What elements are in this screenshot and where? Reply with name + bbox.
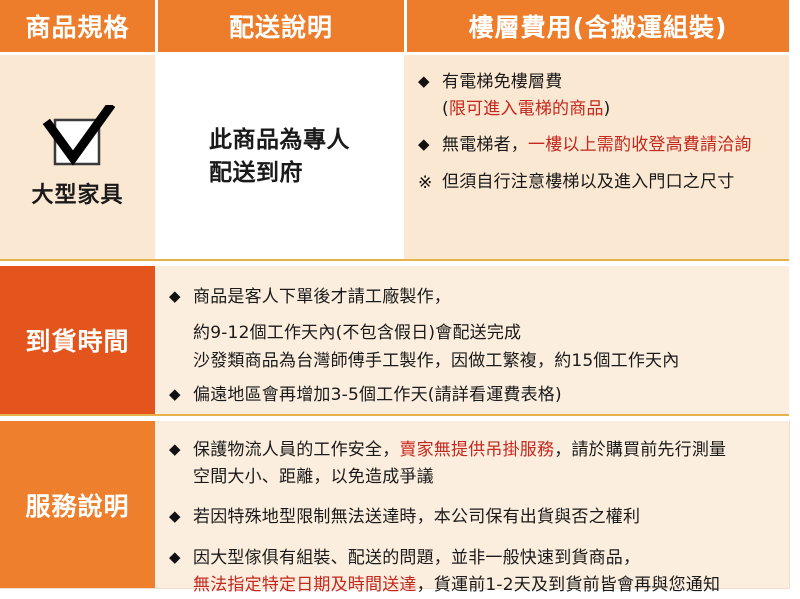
label-arrival-time: 到貨時間 [25,322,129,358]
header-label-product-spec: 商品規格 [25,8,129,44]
delivery-note-line2: 配送到府 [209,157,350,190]
cell-service-note-content: ◆ 保護物流人員的工作安全，賣家無提供吊掛服務，請於購買前先行測量 空間大小、距… [155,421,789,588]
text-segment: ) [604,99,611,119]
table-row-service-note: 服務說明 ◆ 保護物流人員的工作安全，賣家無提供吊掛服務，請於購買前先行測量 空… [0,421,790,589]
cell-label-arrival-time: 到貨時間 [0,266,155,414]
diamond-bullet-icon: ◆ [169,284,193,308]
list-item: ◆ 商品是客人下單後才請工廠製作， [169,284,779,311]
text-segment: 保護物流人員的工作安全， [193,440,399,460]
service-note-item-3: 因大型傢俱有組裝、配送的問題，並非一般快速到貨商品， 無法指定特定日期及時間送達… [193,545,779,599]
header-cell-floor-fee: 樓層費用(含搬運組裝) [407,0,789,52]
arrival-time-subline-2: 沙發類商品為台灣師傅手工製作，因做工繁複，約15個工作天內 [169,348,779,376]
text-segment: 無電梯者， [442,135,528,155]
list-item: ◆ 有電梯免樓層費 (限可進入電梯的商品) [418,69,781,123]
cell-floor-fee: ◆ 有電梯免樓層費 (限可進入電梯的商品) ◆ 無電梯者，一樓以上需酌收登高費請… [404,55,789,259]
arrival-time-item-1: 商品是客人下單後才請工廠製作， [193,284,779,311]
diamond-bullet-icon: ◆ [418,69,442,93]
service-note-item-2: 若因特殊地型限制無法送達時，本公司保有出貨與否之權利 [193,504,779,531]
service-note-item-1: 保護物流人員的工作安全，賣家無提供吊掛服務，請於購買前先行測量 空間大小、距離，… [193,437,779,491]
text-segment-red: 一樓以上需酌收登高費請洽詢 [528,135,752,155]
spec-label-large-furniture: 大型家具 [31,177,123,209]
text-segment-red: 賣家無提供吊掛服務 [399,440,554,460]
list-item: ◆ 無電梯者，一樓以上需酌收登高費請洽詢 [418,132,781,159]
table-row-arrival-time: 到貨時間 ◆ 商品是客人下單後才請工廠製作， 約9-12個工作天內(不包含假日)… [0,266,789,416]
diamond-bullet-icon: ◆ [169,545,193,569]
text-segment: 有電梯免樓層費 [442,72,562,92]
diamond-bullet-icon: ◆ [169,382,193,406]
header-cell-product-spec: 商品規格 [0,0,155,52]
list-item: ※ 但須自行注意樓梯以及進入門口之尺寸 [418,169,781,196]
checkbox-checked-icon [41,105,115,171]
cell-product-spec: 大型家具 [0,55,155,259]
cell-arrival-time-content: ◆ 商品是客人下單後才請工廠製作， 約9-12個工作天內(不包含假日)會配送完成… [155,266,789,414]
text-segment: ( [442,99,449,119]
delivery-note-text: 此商品為專人 配送到府 [209,124,350,189]
header-cell-delivery-note: 配送說明 [158,0,404,52]
shipping-info-table: 商品規格 配送說明 樓層費用(含搬運組裝) 大型家具 此商品為專人 配送到府 [0,0,800,595]
table-header-row: 商品規格 配送說明 樓層費用(含搬運組裝) [0,0,789,52]
text-segment: ，請於購買前先行測量 [554,440,726,460]
header-label-delivery-note: 配送說明 [229,8,333,44]
reference-mark-icon: ※ [418,169,442,196]
text-segment: 因大型傢俱有組裝、配送的問題，並非一般快速到貨商品， [193,548,640,568]
floor-fee-item-3: 但須自行注意樓梯以及進入門口之尺寸 [442,169,781,196]
text-segment-red: 無法指定特定日期及時間送達 [193,575,417,595]
header-label-floor-fee: 樓層費用(含搬運組裝) [469,8,728,44]
label-service-note: 服務說明 [25,487,129,523]
list-item: ◆ 若因特殊地型限制無法送達時，本公司保有出貨與否之權利 [169,504,779,531]
text-segment: 空間大小、距離，以免造成爭議 [193,467,434,487]
diamond-bullet-icon: ◆ [169,504,193,528]
floor-fee-item-1: 有電梯免樓層費 (限可進入電梯的商品) [442,69,781,123]
text-segment: ，貨運前1-2天及到貨前皆會再與您通知 [417,575,721,595]
text-segment-red: 限可進入電梯的商品 [449,99,604,119]
list-item: ◆ 偏遠地區會再增加3-5個工作天(請詳看運費表格) [169,382,779,409]
floor-fee-item-2: 無電梯者，一樓以上需酌收登高費請洽詢 [442,132,781,159]
delivery-note-line1: 此商品為專人 [209,124,350,157]
cell-label-service-note: 服務說明 [0,421,155,588]
arrival-time-item-2: 偏遠地區會再增加3-5個工作天(請詳看運費表格) [193,382,779,409]
arrival-time-subline-1: 約9-12個工作天內(不包含假日)會配送完成 [169,320,779,348]
list-item: ◆ 因大型傢俱有組裝、配送的問題，並非一般快速到貨商品， 無法指定特定日期及時間… [169,545,779,599]
cell-delivery-note: 此商品為專人 配送到府 [155,55,404,259]
diamond-bullet-icon: ◆ [169,437,193,461]
list-item: ◆ 保護物流人員的工作安全，賣家無提供吊掛服務，請於購買前先行測量 空間大小、距… [169,437,779,491]
diamond-bullet-icon: ◆ [418,132,442,156]
table-row-large-furniture: 大型家具 此商品為專人 配送到府 ◆ 有電梯免樓層費 (限可進入電梯的商品) ◆… [0,55,789,261]
